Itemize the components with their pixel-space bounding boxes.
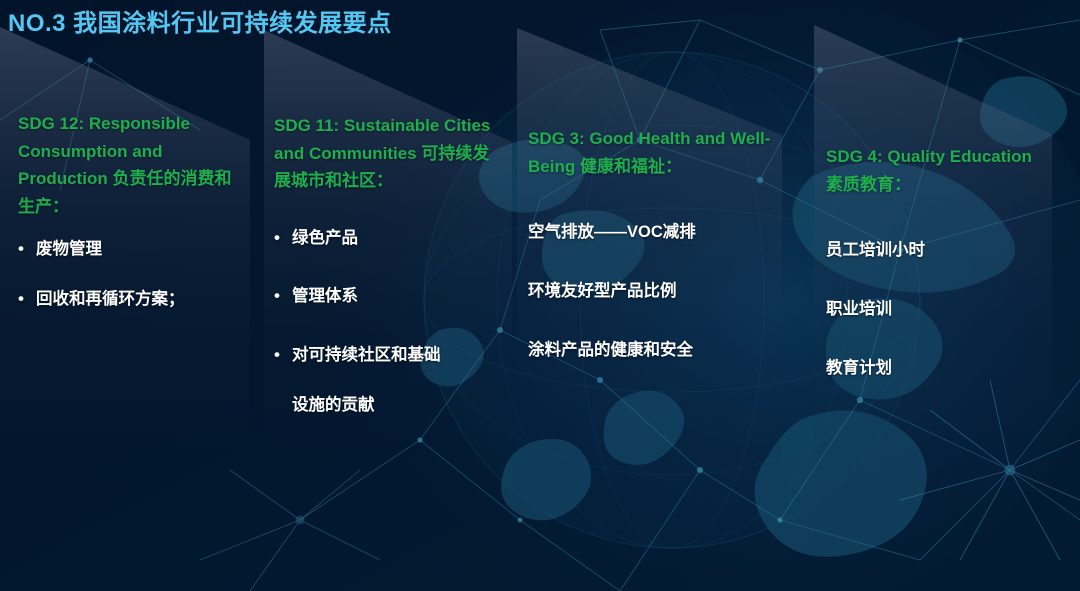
list-item: 回收和再循环方案； — [18, 287, 244, 312]
sdg-heading-sdg-4: SDG 4: Quality Education 素质教育： — [826, 143, 1052, 198]
sdg-card-body-sdg-11: SDG 11: Sustainable Cities and Communiti… — [274, 112, 504, 418]
sdg-card-body-sdg-12: SDG 12: Responsible Consumption and Prod… — [18, 110, 244, 312]
list-item: 管理体系 — [274, 284, 504, 309]
list-item: 教育计划 — [826, 356, 1052, 381]
list-item: 绿色产品 — [274, 226, 504, 251]
list-item-continuation: 设施的贡献 — [274, 393, 504, 418]
page-title: NO.3 我国涂料行业可持续发展要点 — [8, 3, 392, 38]
sdg-heading-sdg-3: SDG 3: Good Health and Well-Being 健康和福祉： — [528, 125, 778, 180]
list-item: 空气排放——VOC减排 — [528, 220, 778, 245]
sdg-card-body-sdg-3: SDG 3: Good Health and Well-Being 健康和福祉：… — [528, 125, 778, 362]
list-item: 对可持续社区和基础 — [274, 343, 504, 368]
list-item: 员工培训小时 — [826, 238, 1052, 263]
list-item: 环境友好型产品比例 — [528, 279, 778, 304]
sdg-card-body-sdg-4: SDG 4: Quality Education 素质教育： 员工培训小时 职业… — [826, 143, 1052, 380]
sdg-heading-sdg-12: SDG 12: Responsible Consumption and Prod… — [18, 110, 244, 220]
list-item: 职业培训 — [826, 297, 1052, 322]
list-item: 涂料产品的健康和安全 — [528, 338, 778, 363]
list-item: 废物管理 — [18, 237, 244, 262]
sdg-heading-sdg-11: SDG 11: Sustainable Cities and Communiti… — [274, 112, 504, 195]
slide-canvas: NO.3 我国涂料行业可持续发展要点 SDG 12: Responsible C… — [0, 0, 1080, 591]
